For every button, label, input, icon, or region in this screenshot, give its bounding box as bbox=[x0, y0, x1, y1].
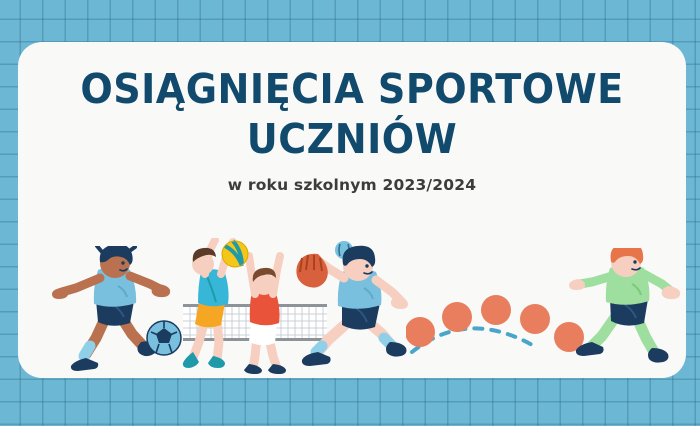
page-title-line-1: OSIĄGNIĘCIA SPORTOWE bbox=[41, 64, 662, 114]
front-shoe bbox=[386, 342, 406, 357]
bounce-dot-3 bbox=[481, 295, 511, 325]
back-sock bbox=[316, 346, 322, 352]
illustration-strip bbox=[18, 238, 686, 378]
page-subtitle: w roku szkolnym 2023/2024 bbox=[18, 176, 686, 194]
eye bbox=[365, 264, 368, 267]
bounce-dot-1 bbox=[406, 317, 435, 347]
running-player-illustration bbox=[566, 248, 686, 374]
running-player bbox=[569, 248, 680, 363]
right-player-shoe-2 bbox=[268, 364, 286, 374]
volleyball-ball bbox=[222, 241, 248, 267]
basketball-dots bbox=[406, 295, 584, 352]
baseball-player-illustration bbox=[294, 240, 414, 374]
bounce-dot-2 bbox=[442, 302, 472, 332]
front-shoe bbox=[648, 348, 668, 363]
eye bbox=[121, 261, 124, 264]
back-shoe bbox=[71, 358, 98, 371]
page-title-line-2: UCZNIÓW bbox=[41, 114, 662, 164]
content-card: OSIĄGNIĘCIA SPORTOWE UCZNIÓW w roku szko… bbox=[18, 42, 686, 378]
back-shoe bbox=[302, 352, 331, 366]
bounce-dot-4 bbox=[520, 304, 550, 334]
eye bbox=[633, 260, 636, 263]
right-hand bbox=[662, 286, 681, 299]
poster-canvas: OSIĄGNIĘCIA SPORTOWE UCZNIÓW w roku szko… bbox=[0, 0, 700, 426]
right-hand bbox=[152, 284, 171, 297]
title-block: OSIĄGNIĘCIA SPORTOWE UCZNIÓW w roku szko… bbox=[18, 64, 686, 194]
baseball-player bbox=[296, 246, 408, 366]
right-player-shoe-1 bbox=[244, 364, 262, 374]
back-sock bbox=[84, 346, 90, 356]
left-player-front-shoe bbox=[208, 356, 225, 368]
